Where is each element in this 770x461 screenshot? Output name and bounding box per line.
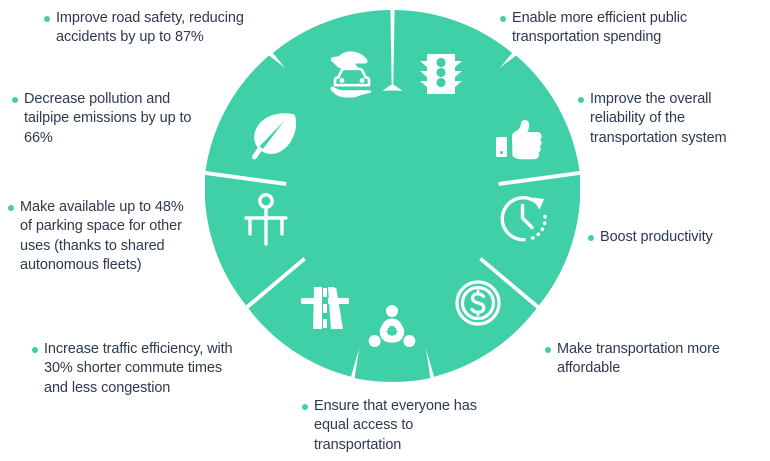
benefits-wheel: .seg { fill:#3FD0A8; } .ic { fill:#fffff… <box>205 10 580 385</box>
benefits-wheel-infographic: .seg { fill:#3FD0A8; } .ic { fill:#fffff… <box>0 0 770 461</box>
callout-affordability: Make transportation more affordable <box>545 340 745 379</box>
callout-text: Increase traffic efficiency, with 30% sh… <box>44 340 247 398</box>
callout-text: Decrease pollution and tailpipe emission… <box>24 90 212 148</box>
callout-text: Improve the overall reliability of the t… <box>590 90 768 148</box>
callout-traffic-efficiency: Increase traffic efficiency, with 30% sh… <box>32 340 247 398</box>
bullet-dot-icon <box>578 97 584 103</box>
callout-reliability: Improve the overall reliability of the t… <box>578 90 768 148</box>
bullet-dot-icon <box>8 205 14 211</box>
bullet-dot-icon <box>44 16 50 22</box>
callout-text: Boost productivity <box>600 228 713 247</box>
callout-text: Enable more efficient public transportat… <box>512 9 730 48</box>
bullet-dot-icon <box>500 16 506 22</box>
bullet-dot-icon <box>302 404 308 410</box>
wheel-hub <box>286 91 500 305</box>
callout-parking-space: Make available up to 48% of parking spac… <box>8 198 198 275</box>
callout-text: Improve road safety, reducing accidents … <box>56 9 279 48</box>
callout-text: Make transportation more affordable <box>557 340 745 379</box>
callout-pollution: Decrease pollution and tailpipe emission… <box>12 90 212 148</box>
bullet-dot-icon <box>588 235 594 241</box>
dollar-coin-icon <box>457 282 499 324</box>
bullet-dot-icon <box>32 347 38 353</box>
bullet-dot-icon <box>545 347 551 353</box>
callout-text: Ensure that everyone has equal access to… <box>314 397 487 455</box>
callout-road-safety: Improve road safety, reducing accidents … <box>44 9 279 48</box>
callout-equal-access: Ensure that everyone has equal access to… <box>302 397 487 455</box>
callout-public-spending: Enable more efficient public transportat… <box>500 9 730 48</box>
callout-productivity: Boost productivity <box>588 228 763 247</box>
callout-text: Make available up to 48% of parking spac… <box>20 198 198 275</box>
bullet-dot-icon <box>12 97 18 103</box>
